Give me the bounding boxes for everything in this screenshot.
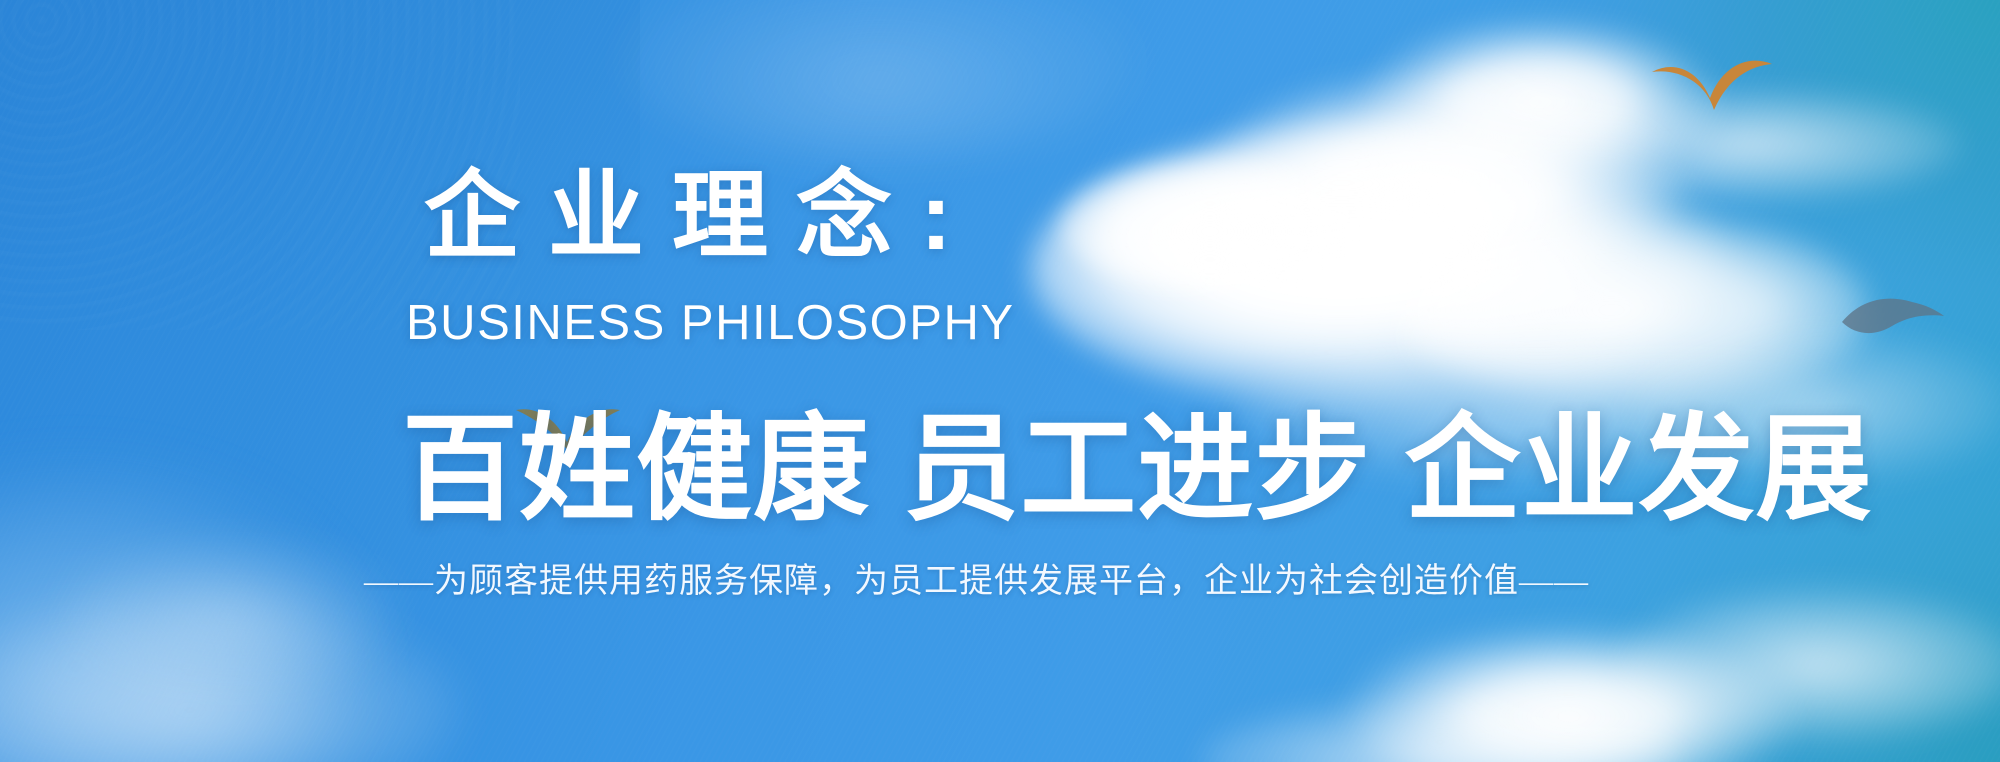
tagline-statement: ——为顾客提供用药服务保障，为员工提供发展平台，企业为社会创造价值—— xyxy=(364,562,1589,603)
page-title-en: BUSINESS PHILOSOPHY xyxy=(406,296,1015,351)
business-philosophy-banner: 企业理念: BUSINESS PHILOSOPHY 百姓健康 员工进步 企业发展… xyxy=(0,0,2000,762)
page-title-cn: 企业理念: xyxy=(424,163,980,271)
headline-slogan: 百姓健康 员工进步 企业发展 xyxy=(402,406,1872,534)
banner-text-content: 企业理念: BUSINESS PHILOSOPHY 百姓健康 员工进步 企业发展… xyxy=(0,0,2000,762)
